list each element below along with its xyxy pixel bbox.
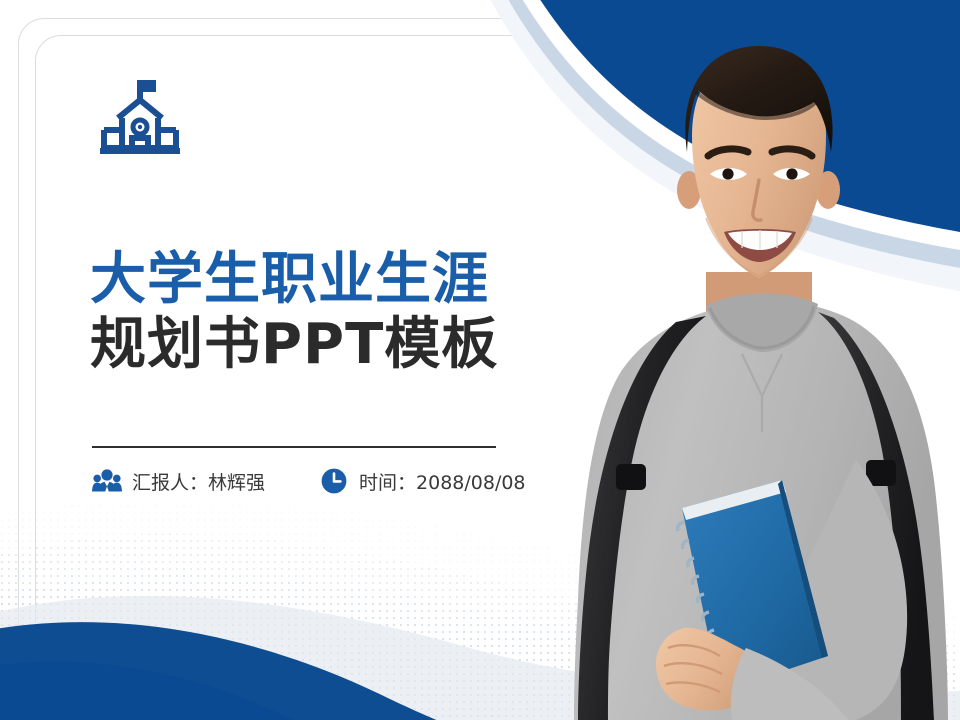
slide-canvas: 大学生职业生涯 规划书PPT模板 汇报人：林辉强 时间：2088: [0, 0, 960, 720]
date-item: 时间：2088/08/08: [319, 466, 526, 496]
title-line-2: 规划书PPT模板: [90, 313, 498, 378]
student-photo: [556, 40, 960, 720]
presenter-item: 汇报人：林辉强: [92, 466, 265, 496]
people-icon: [92, 466, 122, 496]
title-line-1: 大学生职业生涯: [90, 248, 498, 313]
head: [677, 46, 840, 278]
date-text: 时间：2088/08/08: [359, 468, 526, 495]
presenter-text: 汇报人：林辉强: [132, 468, 265, 495]
school-building-icon: [98, 74, 182, 158]
meta-row: 汇报人：林辉强 时间：2088/08/08: [92, 466, 526, 496]
strap-buckle-left: [616, 464, 646, 490]
clock-icon: [319, 466, 349, 496]
page-title: 大学生职业生涯 规划书PPT模板: [90, 248, 498, 378]
title-divider: [92, 446, 496, 448]
